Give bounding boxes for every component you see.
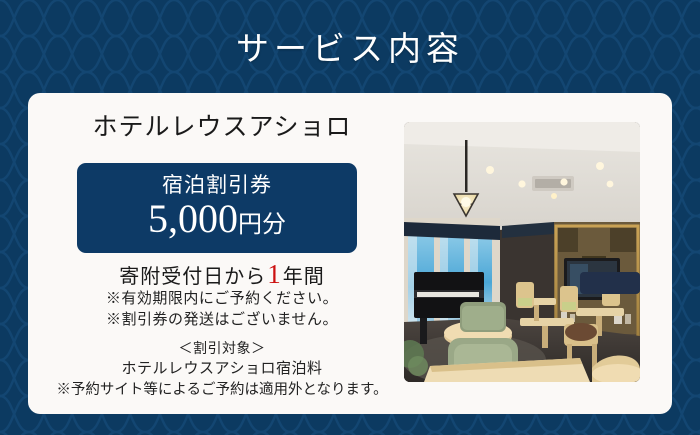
- discount-target-heading: ＜割引対象＞: [28, 340, 416, 359]
- validity-suffix: 年間: [283, 266, 325, 288]
- hotel-name: ホテルレウスアショロ: [28, 115, 416, 140]
- lounge-interior-illustration: [404, 122, 640, 382]
- hotel-lounge-photo: [404, 122, 640, 382]
- discount-target-item: ホテルレウスアショロ宿泊料: [28, 359, 416, 380]
- badge-amount: 5,000円分: [77, 199, 357, 239]
- discount-target-block: ＜割引対象＞ ホテルレウスアショロ宿泊料 ※予約サイト等によるご予約は適用外とな…: [28, 340, 416, 400]
- validity-number: 1: [266, 259, 283, 289]
- info-card: ホテルレウスアショロ 宿泊割引券 5,000円分 寄附受付日から1年間 ※有効期…: [28, 93, 672, 414]
- notes-list: ※有効期限内にご予約ください。 ※割引券の発送はございません。: [28, 289, 416, 332]
- validity-prefix: 寄附受付日から: [119, 266, 266, 288]
- validity-period: 寄附受付日から1年間: [28, 261, 416, 288]
- discount-target-note: ※予約サイト等によるご予約は適用外となります。: [28, 380, 416, 400]
- badge-label: 宿泊割引券: [77, 173, 357, 197]
- discount-badge: 宿泊割引券 5,000円分: [77, 163, 357, 253]
- badge-amount-number: 5,000: [148, 196, 238, 241]
- page-title: サービス内容: [0, 34, 700, 67]
- note-line: ※有効期限内にご予約ください。: [28, 289, 416, 310]
- badge-amount-unit: 円分: [238, 212, 286, 238]
- service-info-graphic: サービス内容 ホテルレウスアショロ 宿泊割引券 5,000円分 寄附受付日から1…: [0, 0, 700, 435]
- note-line: ※割引券の発送はございません。: [28, 310, 416, 331]
- card-left-column: ホテルレウスアショロ 宿泊割引券 5,000円分 寄附受付日から1年間 ※有効期…: [28, 93, 416, 414]
